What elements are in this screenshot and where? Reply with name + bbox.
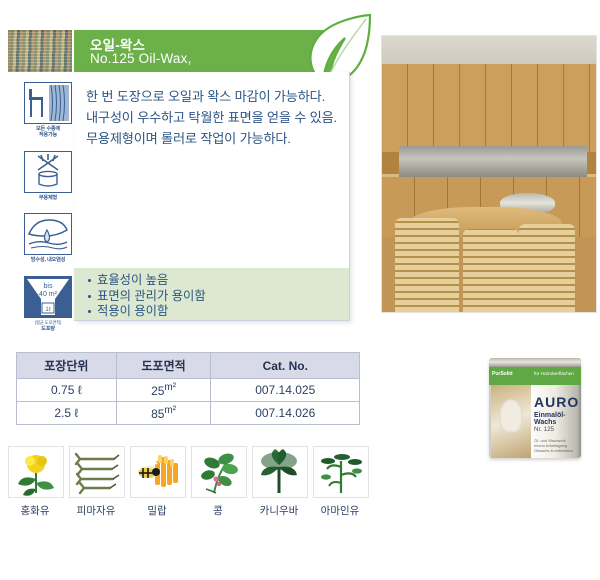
benefits-box: 효율성이 높음 표면의 관리가 용이함 적용이 용이함 (74, 268, 349, 320)
coverage-value: 85 (151, 407, 164, 421)
product-datasheet-page: 오일-왁스 No.125 Oil-Wax, 한 번 도장으로 오일과 왁스 마감… (0, 0, 600, 580)
castor-plant-icon (69, 446, 125, 498)
benefit-item: 표면의 관리가 용이함 (88, 289, 349, 305)
ingredient-label: 밀랍 (130, 503, 184, 518)
product-info-panel: 오일-왁스 No.125 Oil-Wax, 한 번 도장으로 오일과 왁스 마감… (8, 28, 368, 320)
ingredient-label: 카니우바 (252, 503, 306, 518)
cell-cat-no: 007.14.026 (211, 402, 360, 425)
spec-table: 포장단위 도포면적 Cat. No. 0.75 ℓ 25m² 007.14.02… (16, 352, 360, 425)
caption-line-2: 적용가능 (39, 132, 57, 138)
property-icon-caption: 무용제형 (20, 195, 76, 201)
property-icon-item: 모든 수종에 적용가능 (20, 82, 76, 139)
can-brand-logo-line: PurSolid (492, 371, 513, 377)
can-top-line: für Holzoberflächen (534, 371, 574, 376)
property-icon-caption: 모든 수종에 적용가능 (20, 126, 76, 139)
ingredient-item: 밀랍 (130, 446, 184, 518)
ingredient-item: 홍화유 (8, 446, 62, 518)
coverage-bis-text: bis (44, 283, 53, 290)
can-label-illustration (491, 385, 531, 458)
solvent-free-can-icon (24, 151, 72, 193)
ingredient-item: 피마자유 (69, 446, 123, 518)
chair-and-wood-surface-icon (24, 82, 72, 124)
ingredient-row: 홍화유 피마자유 (8, 446, 368, 518)
can-fine-print: Öl- und Wachsmit einem Arbeitsgang Ölwac… (534, 438, 576, 453)
carnauba-palm-icon (252, 446, 308, 498)
beeswax-bee-icon (130, 446, 186, 498)
ingredient-label: 피마자유 (69, 503, 123, 518)
kitchen-interior-photo (378, 28, 600, 320)
photo-stool (519, 224, 575, 312)
cell-coverage: 85m² (116, 402, 211, 425)
product-description: 한 번 도장으로 오일과 왁스 마감이 가능하다. 내구성이 우수하고 탁월한 … (86, 86, 337, 149)
property-icon-caption: (평균 도포면적) 도포량 (20, 320, 76, 333)
coverage-volume-text: 1ℓ (45, 306, 50, 313)
table-header-row: 포장단위 도포면적 Cat. No. (17, 353, 360, 379)
coverage-value: 25 (151, 384, 164, 398)
photo-upper-cabinets (382, 64, 596, 152)
coverage-unit: m² (164, 382, 176, 393)
table-row: 2.5 ℓ 85m² 007.14.026 (17, 402, 360, 425)
can-product-number: Nr. 125 (534, 426, 554, 433)
photo-inner (382, 36, 596, 312)
caption-line-1: 도포량 (41, 326, 55, 332)
cell-coverage: 25m² (116, 379, 211, 402)
photo-steel-backsplash (399, 146, 587, 176)
caption-line-1: 무용제형 (39, 195, 57, 201)
table-header-cell: 도포면적 (116, 353, 211, 379)
table-row: 0.75 ℓ 25m² 007.14.025 (17, 379, 360, 402)
can-lid (489, 358, 581, 367)
photo-ceiling (382, 36, 596, 64)
property-icon-item: 무용제형 (20, 151, 76, 201)
property-icon-item: 방수성, 내오염성 (20, 213, 76, 263)
can-brand-name: AURO (534, 394, 579, 410)
table-header-cell: 포장단위 (17, 353, 117, 379)
description-card: 한 번 도장으로 오일과 왁스 마감이 가능하다. 내구성이 우수하고 탁월한 … (74, 72, 350, 321)
property-icon-column: 모든 수종에 적용가능 무용제형 (20, 82, 76, 344)
cell-cat-no: 007.14.025 (211, 379, 360, 402)
soybean-plant-icon (191, 446, 247, 498)
benefit-item: 적용이 용이함 (88, 304, 349, 320)
product-can-image: PurSolid für Holzoberflächen AURO Einmal… (489, 352, 581, 460)
caption-line-1: 방수성, 내오염성 (31, 257, 66, 263)
cell-package-unit: 0.75 ℓ (17, 379, 117, 402)
photo-stool (395, 218, 459, 312)
cell-package-unit: 2.5 ℓ (17, 402, 117, 425)
ingredient-label: 아마인유 (313, 503, 367, 518)
ingredient-item: 카니우바 (252, 446, 306, 518)
wood-texture-swatch (8, 30, 72, 72)
ingredient-item: 콩 (191, 446, 245, 518)
table-header-cell: Cat. No. (211, 353, 360, 379)
water-drop-repellent-icon (24, 213, 72, 255)
teddy-bear-icon (499, 399, 523, 433)
benefit-item: 효율성이 높음 (88, 273, 349, 289)
photo-stool (463, 229, 519, 312)
benefits-list: 효율성이 높음 표면의 관리가 용이함 적용이 용이함 (74, 268, 349, 320)
property-icon-caption: 방수성, 내오염성 (20, 257, 76, 263)
product-title-en: No.125 Oil-Wax, (90, 51, 192, 66)
property-icon-item: bis 40 m² 1ℓ (평균 도포면적) 도포량 (20, 276, 76, 333)
safflower-plant-icon (8, 446, 64, 498)
ingredient-label: 홍화유 (8, 503, 62, 518)
coverage-bucket-icon: bis 40 m² 1ℓ (24, 276, 72, 318)
can-body: PurSolid für Holzoberflächen AURO Einmal… (489, 358, 581, 458)
can-product-line: Einmalöl-Wachs (534, 412, 581, 426)
coverage-area-text: 40 m² (39, 291, 58, 298)
ingredient-item: 아마인유 (313, 446, 367, 518)
ingredient-label: 콩 (191, 503, 245, 518)
flax-plant-icon (313, 446, 369, 498)
coverage-unit: m² (164, 405, 176, 416)
